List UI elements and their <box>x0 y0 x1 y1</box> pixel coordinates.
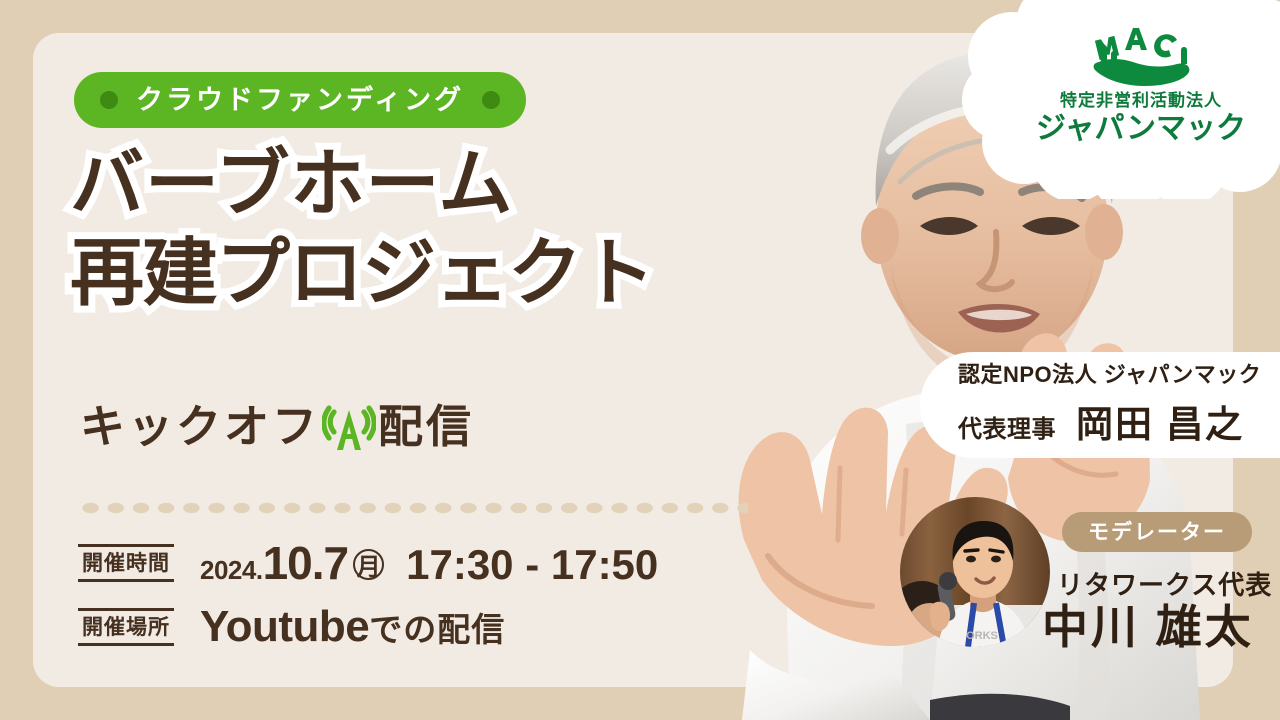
event-year: 2024. <box>200 555 263 586</box>
subtitle: キックオフ 配信 <box>80 400 474 452</box>
info-value-datetime: 2024. 10.7 月 17:30 - 17:50 <box>200 536 658 590</box>
logo-subtitle: 特定非営利活動法人 <box>1060 92 1222 111</box>
speaker-name: 岡田 昌之 <box>1076 394 1244 448</box>
info-row-venue: 開催場所 Youtube での配信 <box>78 602 505 652</box>
headline-line-1: バーブホーム <box>70 146 810 223</box>
venue-platform: Youtube <box>200 602 369 652</box>
dot-right-icon <box>482 91 500 109</box>
info-label-venue: 開催場所 <box>78 608 174 646</box>
moderator-photo: ORKS <box>900 497 1050 647</box>
broadcast-tower-icon <box>322 402 376 454</box>
venue-suffix: での配信 <box>369 603 505 651</box>
mac-hands-logo-icon <box>1081 18 1201 90</box>
dotted-divider <box>78 500 748 516</box>
speaker-nameplate: 認定NPO法人 ジャパンマック 代表理事 岡田 昌之 <box>920 352 1280 458</box>
speaker-role: 代表理事 <box>958 409 1056 444</box>
moderator-name: 中川 雄太 <box>1042 604 1254 650</box>
poster-canvas: 特定非営利活動法人 ジャパンマック クラウドファンディング バーブホーム 再建プ… <box>0 0 1280 720</box>
crowdfunding-badge: クラウドファンディング <box>74 72 526 128</box>
event-weekday: 月 <box>353 549 384 580</box>
headline-line-2: 再建プロジェクト <box>70 235 810 312</box>
moderator-org: リタワークス代表 <box>1057 572 1272 598</box>
info-value-venue: Youtube での配信 <box>200 602 505 652</box>
moderator-badge-label: モデレーター <box>1088 522 1226 543</box>
crowdfunding-badge-label: クラウドファンディング <box>136 87 464 114</box>
event-date: 10.7 <box>263 536 349 590</box>
moderator-badge: モデレーター <box>1062 512 1252 552</box>
subtitle-suffix: 配信 <box>378 404 474 449</box>
svg-text:ORKS: ORKS <box>966 630 998 642</box>
speaker-org: 認定NPO法人 ジャパンマック <box>958 362 1280 388</box>
info-row-datetime: 開催時間 2024. 10.7 月 17:30 - 17:50 <box>78 536 658 590</box>
subtitle-prefix: キックオフ <box>80 404 320 449</box>
dot-left-icon <box>100 91 118 109</box>
event-time: 17:30 - 17:50 <box>406 541 658 589</box>
info-label-time: 開催時間 <box>78 544 174 582</box>
speaker-identity: 代表理事 岡田 昌之 <box>958 394 1280 448</box>
logo-name: ジャパンマック <box>1036 112 1246 145</box>
organization-logo: 特定非営利活動法人 ジャパンマック <box>1028 18 1254 145</box>
page-title: バーブホーム 再建プロジェクト <box>70 146 810 324</box>
